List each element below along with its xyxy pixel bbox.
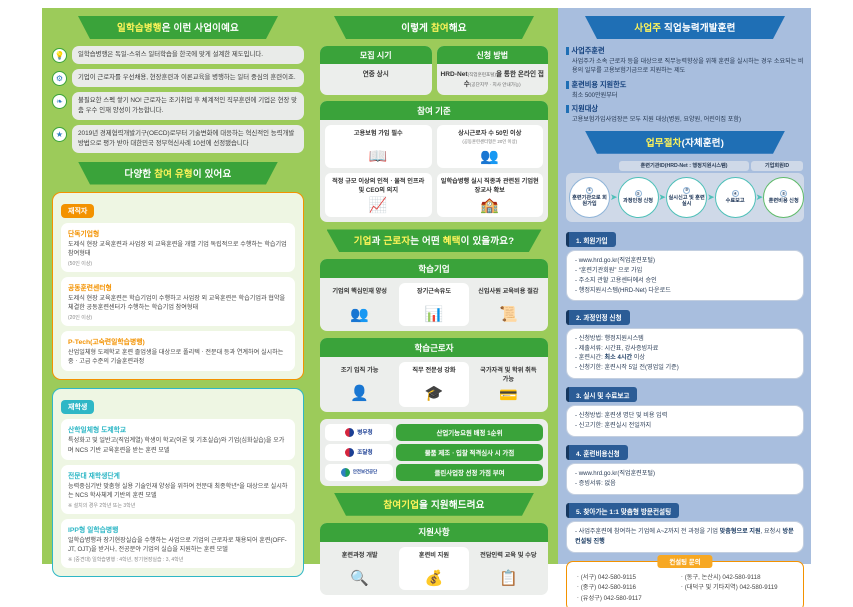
- banner-participation-types: 다양한 참여 유형이 있어요: [78, 162, 278, 185]
- contact-row: ㆍ(유성구) 042-580-9117: [575, 594, 795, 605]
- list-item: 공동훈련센터형 도제식 현장 교육훈련은 학습기업이 수행하고 사업장 외 교육…: [61, 277, 295, 326]
- apply-method-value: HRD-Net(직업훈련포털)을 통한 온라인 접수(공단지부ㆍ지사 안내가능): [437, 64, 549, 95]
- step-header: 2. 과정인정 신청: [566, 310, 630, 325]
- flow-node-label: 훈련비용 신청: [769, 198, 799, 205]
- report-icon: 📋: [477, 571, 540, 586]
- list-item: 단독기업형 도제식 현장 교육훈련과 사업장 외 교육훈련을 개별 기업 독립적…: [61, 223, 295, 272]
- support-block: 지원사항 훈련과정 개발 🔍 훈련비 지원 💰 전담인력 교육 및 수당 📋: [320, 523, 548, 595]
- flow-node-number: ②: [635, 190, 642, 197]
- certificate-icon: 💳: [477, 388, 540, 403]
- benefit-company-block: 학습기업 기업의 핵심인재 양성 👥 장기근속유도 📊 신입사원 교육비용 절감…: [320, 259, 548, 331]
- banner-how-to-participate: 이렇게 참여해요: [334, 16, 534, 39]
- step-4: 4. 훈련비용신청 - www.hrd.go.kr(직업훈련포털) - 증빙서류…: [566, 443, 804, 495]
- type-title: 전문대 재학생단계: [68, 470, 288, 480]
- flow-node-label: 훈련기관으로 회원가입: [570, 195, 609, 209]
- benefit-title: 조기 입직 가능: [328, 367, 391, 383]
- hrdnet-label: HRD-Net: [441, 71, 468, 78]
- criteria-row-1: 고용보험 가입 필수 📖 상시근로자 수 50인 이상 (공동훈련센터형은 20…: [320, 120, 548, 173]
- contact-title: 컨설팅 문의: [657, 555, 712, 568]
- flow-nodes: ① 훈련기관으로 회원가입 ➤ ② 과정인정 신청 ➤ ③ 실시신고 및 훈련실…: [566, 173, 804, 222]
- criteria-title: 일학습병행 실시 직종과 관련된 기업현장교사 확보: [441, 178, 540, 195]
- info-section: 훈련비용 지원한도 최소 500만원부터: [566, 80, 804, 100]
- step-1: 1. 회원가입 - www.hrd.go.kr(직업훈련포털) - “훈련기관회…: [566, 230, 804, 302]
- contact-lines: ㆍ(서구) 042-580-9115ㆍ(동구, 논산시) 042-580-911…: [575, 573, 795, 605]
- type-group-label: 재직자: [61, 204, 94, 218]
- flow-node-1: ① 훈련기관으로 회원가입: [569, 177, 610, 218]
- info-head-row: 훈련비용 지원한도: [566, 80, 804, 90]
- document-icon: 📜: [477, 307, 540, 322]
- criteria-row-2: 적정 규모 이상의 인적ㆍ물적 인프라 및 CEO의 의지 📈 일학습병행 실시…: [320, 173, 548, 222]
- agency-benefit: 산업기능요원 배정 1순위: [396, 424, 543, 441]
- step-line: - www.hrd.go.kr(직업훈련포털): [575, 256, 795, 266]
- teacher-icon: 🏫: [441, 198, 540, 213]
- benefit-title: 국가자격 및 학위 취득 가능: [477, 367, 540, 384]
- banner-employer-rest: 직업능력개발훈련: [661, 23, 735, 34]
- step-line: - “훈련기관회원” 으로 가입: [575, 266, 795, 276]
- benefit-item: 직무 전문성 강화 🎓: [399, 362, 468, 406]
- type-note: ※ 설치의 경우 2학년 또는 3학년: [68, 502, 288, 509]
- award-icon: ★: [52, 127, 67, 142]
- benefit-title: 직무 전문성 강화: [402, 367, 465, 383]
- criteria-item: 일학습병행 실시 직종과 관련된 기업현장교사 확보 🏫: [437, 173, 544, 217]
- korea-gov-emblem-icon: [345, 448, 354, 457]
- flow-caption-company-id: 기업회원ID: [751, 161, 803, 171]
- contact-phone[interactable]: ㆍ(대덕구 및 기타지역) 042-580-9119: [679, 584, 778, 591]
- chevron-right-icon: ➤: [756, 192, 764, 203]
- step-header: 3. 실시 및 수료보고: [566, 387, 637, 402]
- apply-method-cell: 신청 방법 HRD-Net(직업훈련포털)을 통한 온라인 접수(공단지부ㆍ지사…: [437, 46, 549, 95]
- step-body: - www.hrd.go.kr(직업훈련포털) - “훈련기관회원” 으로 가입…: [566, 250, 804, 301]
- support-title: 전담인력 교육 및 수당: [477, 552, 540, 568]
- support-header: 지원사항: [320, 523, 548, 542]
- step-line: - 신청방법: 행정지원시스템: [575, 334, 795, 344]
- step-header: 4. 훈련비용신청: [566, 445, 628, 460]
- benefit-company-header: 학습기업: [320, 259, 548, 278]
- criteria-header: 참여 기준: [320, 101, 548, 120]
- support-item: 훈련과정 개발 🔍: [325, 547, 394, 590]
- contact-phone[interactable]: ㆍ(유성구) 042-580-9117: [575, 594, 679, 605]
- share-icon: ❧: [52, 94, 67, 109]
- flow-node-number: ③: [683, 187, 690, 194]
- step-line: - 신청기한: 훈련시작 5일 전(영업일 기준): [575, 363, 795, 373]
- flow-node-3: ③ 실시신고 및 훈련실시: [666, 177, 707, 218]
- benefit-worker-header: 학습근로자: [320, 338, 548, 357]
- banner-about-rest: 은 이런 사업이예요: [162, 23, 239, 34]
- recruit-period-value: 연중 상시: [320, 64, 432, 86]
- type-desc: 산업일체형 도제학교 훈련 졸업생을 대상으로 폴리텍ㆍ전문대 등과 연계하여 …: [68, 348, 288, 366]
- agency-name: 병무청: [357, 428, 372, 436]
- banner-support-highlight: 참여기업: [383, 500, 419, 511]
- gear-icon: ⚙: [52, 71, 67, 86]
- contact-row: ㆍ(서구) 042-580-9115ㆍ(동구, 논산시) 042-580-911…: [575, 573, 795, 584]
- banner-about-highlight: 일학습병행: [117, 23, 162, 34]
- agency-logo-cell: 병무청: [325, 424, 393, 441]
- info-head: 훈련비용 지원한도: [572, 80, 627, 90]
- info-body: 사업주가 소속 근로자 등을 대상으로 직무능력향상을 위해 훈련을 실시하는 …: [566, 57, 804, 76]
- support-title: 훈련비 지원: [402, 552, 465, 568]
- criteria-title: 적정 규모 이상의 인적ㆍ물적 인프라 및 CEO의 의지: [329, 178, 428, 195]
- agency-name: 조달청: [357, 448, 372, 456]
- info-head: 사업주훈련: [572, 46, 605, 56]
- chevron-right-icon: ➤: [707, 192, 715, 203]
- recruit-apply-row: 모집 시기 연중 상시 신청 방법 HRD-Net(직업훈련포털)을 통한 온라…: [320, 46, 548, 95]
- banner-benefit-mid: 과: [372, 236, 384, 247]
- process-flow-diagram: 훈련기관ID(HRD-Net : 행정지원시스템) 기업회원ID ① 훈련기관으…: [566, 161, 804, 222]
- banner-benefit-rest: 는 어떤: [410, 236, 443, 247]
- step-header: 1. 회원가입: [566, 232, 616, 247]
- flow-node-label: 수료보고: [726, 198, 745, 205]
- type-title: P-Tech(고숙련일학습병행): [68, 336, 288, 346]
- money-icon: 💰: [402, 571, 465, 586]
- type-group-label: 재학생: [61, 400, 94, 414]
- type-desc: 도제식 현장 교육훈련은 학습기업이 수행하고 사업장 외 교육훈련은 학습기업…: [68, 294, 288, 312]
- bullet-text: 기업이 근로자를 우선채용, 현장훈련과 이론교육을 병행하는 일터 중심의 훈…: [72, 69, 304, 87]
- banner-benefits: 기업과 근로자는 어떤 혜택이 있을까요?: [327, 229, 542, 252]
- step-line: - 행정지원시스템(HRD-Net) 다운로드: [575, 286, 795, 296]
- bullet-text: 일학습병행은 독일-스위스 일터학습을 한국에 맞게 설계한 제도입니다.: [72, 46, 304, 64]
- list-item: 산학일체형 도제학교 특성화고 및 일반고(직업계열) 학생이 학교(이론 및 …: [61, 419, 295, 459]
- skill-icon: 🎓: [402, 386, 465, 401]
- about-bullet-list: 💡 일학습병행은 독일-스위스 일터학습을 한국에 맞게 설계한 제도입니다. …: [52, 46, 304, 153]
- bar-marker-icon: [566, 105, 569, 113]
- benefit-company-items: 기업의 핵심인재 양성 👥 장기근속유도 📊 신입사원 교육비용 절감 📜: [320, 278, 548, 331]
- list-item: IPP형 일학습병행 일학습병행과 장기현장실습을 수행하는 사업으로 기업의 …: [61, 519, 295, 568]
- support-items: 훈련과정 개발 🔍 훈련비 지원 💰 전담인력 교육 및 수당 📋: [320, 542, 548, 595]
- benefit-item: 기업의 핵심인재 양성 👥: [325, 283, 394, 326]
- chart-icon: 📈: [329, 198, 428, 213]
- chevron-right-icon: ➤: [610, 192, 618, 203]
- middle-column: 이렇게 참여해요 모집 시기 연중 상시 신청 방법 HRD-Net(직업훈련포…: [320, 16, 548, 602]
- info-head-row: 지원대상: [566, 104, 804, 114]
- flow-node-label: 실시신고 및 훈련실시: [667, 195, 706, 209]
- contact-phone[interactable]: ㆍ(동구, 논산시) 042-580-9118: [679, 574, 761, 581]
- banner-process-rest: (자체훈련): [682, 138, 725, 149]
- step-body: - 신청방법: 훈련생 명단 및 비용 입력 - 신고기한: 훈련실시 전일까지: [566, 405, 804, 437]
- table-row: 안전보건공단 클린사업장 선정 가점 부여: [325, 464, 543, 481]
- benefit-title: 장기근속유도: [402, 288, 465, 304]
- info-head: 지원대상: [572, 104, 598, 114]
- type-note: ※ (중견대) 일학습병행 : 4학년, 장기현장실습 : 3, 4학년: [68, 556, 288, 563]
- criteria-title: 고용보험 가입 필수: [329, 130, 428, 146]
- banner-types-rest: 이 있어요: [193, 169, 232, 180]
- bullet-text: 불필요한 스펙 쌓기 NO! 근로자는 조기취업 후 체계적인 직무훈련에 기업…: [72, 92, 304, 120]
- flow-node-number: ④: [732, 190, 739, 197]
- support-item: 전담인력 교육 및 수당 📋: [474, 547, 543, 590]
- info-section: 지원대상 고용보험가입사업장은 모두 지원 대상(병원, 요양원, 어린이집 포…: [566, 104, 804, 124]
- benefit-worker-block: 학습근로자 조기 입직 가능 👤 직무 전문성 강화 🎓 국가자격 및 학위 취…: [320, 338, 548, 411]
- type-title: 단독기업형: [68, 228, 288, 238]
- step-body: - 사업주훈련에 참여하는 기업에 A~Z까지 전 과정을 기업 맞춤형으로 지…: [566, 521, 804, 553]
- flow-node-4: ④ 수료보고: [715, 177, 756, 218]
- type-desc: 도제식 현장 교육훈련과 사업장 외 교육훈련을 개별 기업 독립적으로 수행하…: [68, 240, 288, 258]
- banner-employer-highlight: 사업주: [634, 23, 661, 34]
- flow-node-number: ⑤: [780, 190, 787, 197]
- support-title: 훈련과정 개발: [328, 552, 391, 568]
- list-item: 전문대 재학생단계 능력중심기반 맞춤형 실용 기술인재 양성을 위하여 전문대…: [61, 465, 295, 514]
- apply-online-sub: (공단지부ㆍ지사 안내가능): [470, 82, 521, 87]
- info-body: 최소 500만원부터: [566, 91, 804, 100]
- type-desc: 특성화고 및 일반고(직업계열) 학생이 학교(이론 및 기초실습)와 기업(심…: [68, 436, 288, 454]
- chevron-right-icon: ➤: [659, 192, 667, 203]
- benefit-title: 신입사원 교육비용 절감: [477, 288, 540, 304]
- info-body: 고용보험가입사업장은 모두 지원 대상(병원, 요양원, 어린이집 포함): [566, 115, 804, 124]
- list-item: ❧ 불필요한 스펙 쌓기 NO! 근로자는 조기취업 후 체계적인 직무훈련에 …: [52, 92, 304, 120]
- recruit-period-cell: 모집 시기 연중 상시: [320, 46, 432, 95]
- type-group-student: 재학생 산학일체형 도제학교 특성화고 및 일반고(직업계열) 학생이 학교(이…: [52, 388, 304, 577]
- person-idea-icon: 👤: [328, 386, 391, 401]
- table-row: 병무청 산업기능요원 배정 1순위: [325, 424, 543, 441]
- type-desc: 능력중심기반 맞춤형 실용 기술인재 양성을 위하여 전문대 최종학년*을 대상…: [68, 482, 288, 500]
- step-5: 5. 찾아가는 1:1 맞춤형 방문컨설팅 - 사업주훈련에 참여하는 기업에 …: [566, 501, 804, 553]
- bar-marker-icon: [566, 81, 569, 89]
- type-title: IPP형 일학습병행: [68, 524, 288, 534]
- apply-method-header: 신청 방법: [437, 46, 549, 64]
- type-title: 공동훈련센터형: [68, 282, 288, 292]
- bullet-text: 2019년 경제협력개발기구(OECD)로부터 기술변화에 대응하는 혁신적인 …: [72, 125, 304, 153]
- team-icon: 👥: [328, 307, 391, 322]
- brochure-page: 일학습병행은 이런 사업이예요 💡 일학습병행은 독일-스위스 일터학습을 한국…: [0, 0, 853, 607]
- criteria-block: 참여 기준 고용보험 가입 필수 📖 상시근로자 수 50인 이상 (공동훈련센…: [320, 101, 548, 222]
- step-header: 5. 찾아가는 1:1 맞춤형 방문컨설팅: [566, 503, 679, 518]
- step-2: 2. 과정인정 신청 - 신청방법: 행정지원시스템 - 제출서류: 시간표, …: [566, 307, 804, 379]
- step-line: - 신청방법: 훈련생 명단 및 비용 입력: [575, 411, 795, 421]
- benefit-worker-items: 조기 입직 가능 👤 직무 전문성 강화 🎓 국가자격 및 학위 취득 가능 💳: [320, 357, 548, 411]
- flow-node-number: ①: [586, 187, 593, 194]
- banner-benefit-rest2: 이 있을까요?: [461, 236, 515, 247]
- flow-node-2: ② 과정인정 신청: [618, 177, 659, 218]
- benefit-title: 기업의 핵심인재 양성: [328, 288, 391, 304]
- list-item: ⚙ 기업이 근로자를 우선채용, 현장훈련과 이론교육을 병행하는 일터 중심의…: [52, 69, 304, 87]
- type-group-employed: 재직자 단독기업형 도제식 현장 교육훈련과 사업장 외 교육훈련을 개별 기업…: [52, 192, 304, 381]
- criteria-title: 상시근로자 수 50인 이상 (공동훈련센터형은 20인 이상): [441, 130, 540, 146]
- kosha-logo-icon: [341, 468, 350, 477]
- criteria-title-sub: (공동훈련센터형은 20인 이상): [441, 139, 540, 145]
- criteria-title-main: 상시근로자 수 50인 이상: [458, 130, 521, 137]
- list-item: 💡 일학습병행은 독일-스위스 일터학습을 한국에 맞게 설계한 제도입니다.: [52, 46, 304, 64]
- step-line: - 주소지 관할 고용센터에서 승인: [575, 276, 795, 286]
- employer-info-sections: 사업주훈련 사업주가 소속 근로자 등을 대상으로 직무능력향상을 위해 훈련을…: [566, 46, 804, 125]
- korea-gov-emblem-icon: [345, 428, 354, 437]
- info-head-row: 사업주훈련: [566, 46, 804, 56]
- table-row: 조달청 물품 제조ㆍ입찰 적격심사 시 가점: [325, 444, 543, 461]
- type-desc: 일학습병행과 장기현장실습을 수행하는 사업으로 기업의 근로자로 채용되어 훈…: [68, 536, 288, 554]
- benefit-item: 국가자격 및 학위 취득 가능 💳: [474, 362, 543, 406]
- banner-employer-training: 사업주 직업능력개발훈련: [585, 16, 785, 39]
- step-3: 3. 실시 및 수료보고 - 신청방법: 훈련생 명단 및 비용 입력 - 신고…: [566, 385, 804, 437]
- agency-logo-cell: 안전보건공단: [325, 464, 393, 481]
- agency-logo-cell: 조달청: [325, 444, 393, 461]
- right-column: 사업주 직업능력개발훈련 사업주훈련 사업주가 소속 근로자 등을 대상으로 직…: [566, 16, 804, 607]
- benefit-item: 장기근속유도 📊: [399, 283, 468, 326]
- agency-name: 안전보건공단: [353, 469, 377, 475]
- criteria-item: 고용보험 가입 필수 📖: [325, 125, 432, 168]
- hrdnet-sub: (직업훈련포털): [468, 72, 496, 77]
- left-column: 일학습병행은 이런 사업이예요 💡 일학습병행은 독일-스위스 일터학습을 한국…: [52, 16, 304, 585]
- flow-caption-hrdnet: 훈련기관ID(HRD-Net : 행정지원시스템): [619, 161, 749, 171]
- flow-node-5: ⑤ 훈련비용 신청: [763, 177, 804, 218]
- criteria-item: 상시근로자 수 50인 이상 (공동훈련센터형은 20인 이상) 👥: [437, 125, 544, 168]
- banner-types-pre: 다양한: [125, 169, 155, 180]
- banner-support-rest: 을 지원해드려요: [419, 500, 484, 511]
- flow-captions: 훈련기관ID(HRD-Net : 행정지원시스템) 기업회원ID: [566, 161, 804, 171]
- step-body: - www.hrd.go.kr(직업훈련포털) - 증빙서류: 없음: [566, 463, 804, 495]
- banner-benefit-hi2: 근로자: [383, 236, 410, 247]
- banner-process-highlight: 업무절차: [646, 138, 682, 149]
- magnifier-icon: 🔍: [328, 571, 391, 586]
- agency-benefit: 물품 제조ㆍ입찰 적격심사 시 가점: [396, 444, 543, 461]
- criteria-item: 적정 규모 이상의 인적ㆍ물적 인프라 및 CEO의 의지 📈: [325, 173, 432, 217]
- banner-how-highlight: 참여: [431, 23, 449, 34]
- contact-phone[interactable]: ㆍ(중구) 042-580-9116: [575, 583, 679, 594]
- type-title: 산학일체형 도제학교: [68, 424, 288, 434]
- agency-benefit: 클린사업장 선정 가점 부여: [396, 464, 543, 481]
- contact-row: ㆍ(중구) 042-580-9116ㆍ(대덕구 및 기타지역) 042-580-…: [575, 583, 795, 594]
- banner-benefit-hi3: 혜택: [443, 236, 461, 247]
- agency-benefits-block: 병무청 산업기능요원 배정 1순위 조달청 물품 제조ㆍ입찰 적격심사 시 가점…: [320, 419, 548, 486]
- info-section: 사업주훈련 사업주가 소속 근로자 등을 대상으로 직무능력향상을 위해 훈련을…: [566, 46, 804, 76]
- growth-icon: 📊: [402, 307, 465, 322]
- benefit-item: 신입사원 교육비용 절감 📜: [474, 283, 543, 326]
- bar-marker-icon: [566, 47, 569, 55]
- people-icon: 👥: [441, 149, 540, 164]
- support-item: 훈련비 지원 💰: [399, 547, 468, 590]
- step-line: - www.hrd.go.kr(직업훈련포털): [575, 469, 795, 479]
- banner-how-rest: 해요: [449, 23, 467, 34]
- list-item: P-Tech(고숙련일학습병행) 산업일체형 도제학교 훈련 졸업생을 대상으로…: [61, 331, 295, 371]
- banner-process: 업무절차(자체훈련): [585, 131, 785, 154]
- lightbulb-icon: 💡: [52, 48, 67, 63]
- step-line: - 사업주훈련에 참여하는 기업에 A~Z까지 전 과정을 기업 맞춤형으로 지…: [575, 527, 795, 547]
- banner-benefit-hi1: 기업: [354, 236, 372, 247]
- banner-about-program: 일학습병행은 이런 사업이예요: [78, 16, 278, 39]
- contact-phone[interactable]: ㆍ(서구) 042-580-9115: [575, 573, 679, 584]
- type-note: (50인 이상): [68, 260, 288, 267]
- type-note: (20인 이상): [68, 314, 288, 321]
- step-line: - 증빙서류: 없음: [575, 479, 795, 489]
- recruit-period-header: 모집 시기: [320, 46, 432, 64]
- book-icon: 📖: [329, 149, 428, 164]
- list-item: ★ 2019년 경제협력개발기구(OECD)로부터 기술변화에 대응하는 혁신적…: [52, 125, 304, 153]
- contact-box: 컨설팅 문의 ㆍ(서구) 042-580-9115ㆍ(동구, 논산시) 042-…: [566, 561, 804, 607]
- banner-types-highlight: 참여 유형: [154, 169, 193, 180]
- step-line: - 신고기한: 훈련실시 전일까지: [575, 421, 795, 431]
- banner-how-pre: 이렇게: [401, 23, 431, 34]
- benefit-item: 조기 입직 가능 👤: [325, 362, 394, 406]
- step-line: - 훈련시간: 최소 4시간 이상: [575, 353, 795, 363]
- step-body: - 신청방법: 행정지원시스템 - 제출서류: 시간표, 강사증빙자료 - 훈련…: [566, 328, 804, 379]
- step-line: - 제출서류: 시간표, 강사증빙자료: [575, 344, 795, 354]
- banner-support: 참여기업을 지원해드려요: [334, 493, 534, 516]
- flow-node-label: 과정인정 신청: [623, 198, 653, 205]
